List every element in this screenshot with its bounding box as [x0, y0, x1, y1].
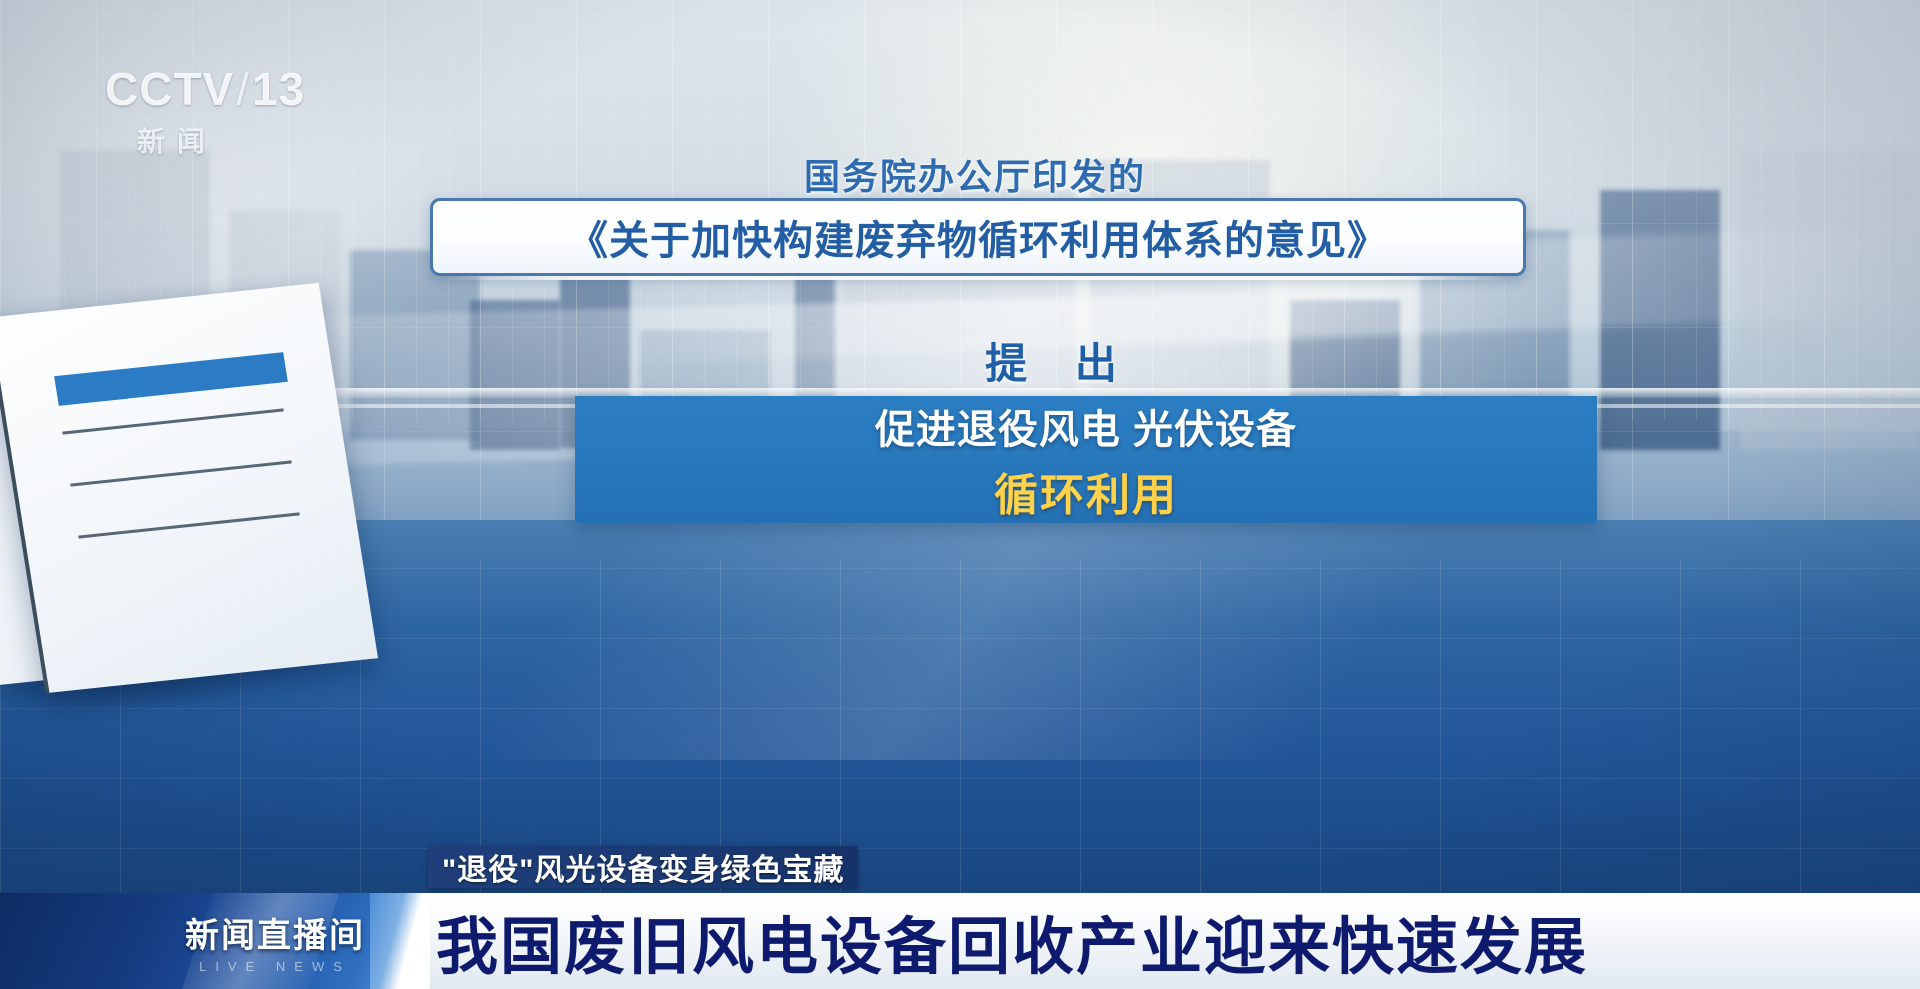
proposes-label: 提 出	[700, 330, 1420, 391]
policy-banner-line-2: 循环利用	[994, 459, 1178, 523]
program-badge: 新闻直播间 LIVE NEWS	[155, 908, 395, 974]
headline: 我国废旧风电设备回收产业迎来快速发展	[436, 900, 1588, 982]
channel-logo-main: CCTV/13	[105, 66, 305, 112]
policy-kicker: 国务院办公厅印发的	[430, 148, 1520, 200]
subtitle-text: "退役"风光设备变身绿色宝藏	[442, 845, 844, 889]
policy-banner-content: 促进退役风电 光伏设备 循环利用	[575, 396, 1597, 523]
headline-text: 我国废旧风电设备回收产业迎来快速发展	[436, 896, 1588, 986]
subtitle-bar: "退役"风光设备变身绿色宝藏	[428, 846, 858, 888]
program-name-cn: 新闻直播间	[155, 908, 395, 957]
broadcast-frame: CCTV/13 新闻 国务院办公厅印发的 《关于加快构建废弃物循环利用体系的意见…	[0, 0, 1920, 989]
channel-logo-slash: /	[236, 63, 250, 115]
channel-logo: CCTV/13 新闻	[105, 66, 305, 160]
document-front-page	[0, 283, 378, 693]
channel-logo-text: CCTV	[105, 63, 234, 115]
policy-title-box: 《关于加快构建废弃物循环利用体系的意见》	[430, 198, 1526, 276]
channel-logo-sub: 新闻	[137, 120, 305, 160]
policy-title: 《关于加快构建废弃物循环利用体系的意见》	[568, 208, 1388, 266]
policy-banner-line-1: 促进退役风电 光伏设备	[875, 397, 1297, 455]
program-name-en: LIVE NEWS	[155, 959, 395, 974]
document-illustration	[0, 290, 400, 710]
policy-title-underline	[444, 276, 1506, 280]
channel-logo-number: 13	[252, 63, 305, 115]
